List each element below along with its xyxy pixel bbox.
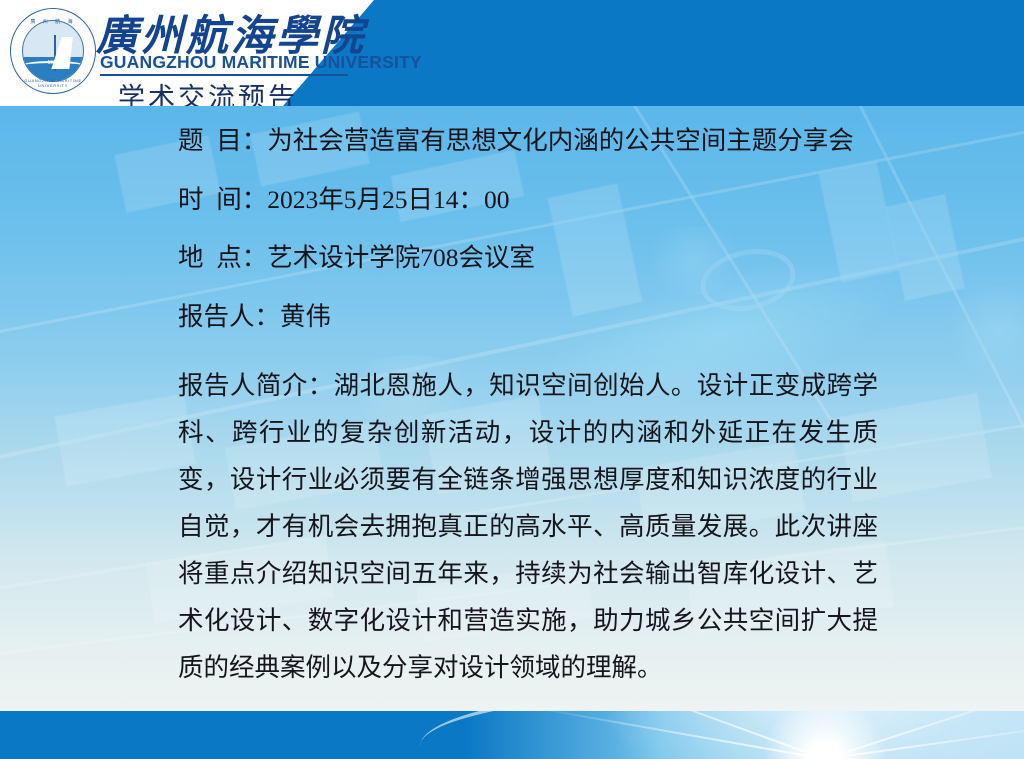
speaker-line: 报告人：黄伟	[178, 304, 882, 330]
logo-year: 1964	[23, 60, 83, 66]
brand-name-english: GUANGZHOU MARITIME UNIVERSITY	[100, 52, 422, 73]
campus-building	[886, 195, 964, 300]
logo-inner-disc: 1964	[22, 20, 84, 82]
header-banner: 1964 廣 州 航 海 GUANGZHOU MARITIME UNIVERSI…	[0, 0, 1024, 106]
campus-building	[55, 394, 195, 486]
title-line: 题 目：为社会营造富有思想文化内涵的公共空间主题分享会	[178, 128, 882, 154]
place-line: 地 点：艺术设计学院708会议室	[178, 245, 882, 271]
sunburst-icon	[760, 711, 890, 759]
footer-banner	[0, 711, 1024, 759]
logo-arc-text-top: 廣 州 航 海	[11, 18, 95, 25]
announcement-content: 题 目：为社会营造富有思想文化内涵的公共空间主题分享会 时 间：2023年5月2…	[178, 128, 882, 691]
banner-subtitle: 学术交流预告	[118, 76, 298, 106]
speaker-bio: 报告人简介：湖北恩施人，知识空间创始人。设计正变成跨学科、跨行业的复杂创新活动，…	[178, 362, 878, 691]
campus-trees	[940, 285, 1024, 375]
time-line: 时 间：2023年5月25日14：00	[178, 187, 882, 213]
university-logo: 1964 廣 州 航 海 GUANGZHOU MARITIME UNIVERSI…	[10, 8, 96, 94]
logo-arc-text-bottom: GUANGZHOU MARITIME UNIVERSITY	[11, 78, 95, 88]
announcement-poster: 1964 廣 州 航 海 GUANGZHOU MARITIME UNIVERSI…	[0, 0, 1024, 759]
